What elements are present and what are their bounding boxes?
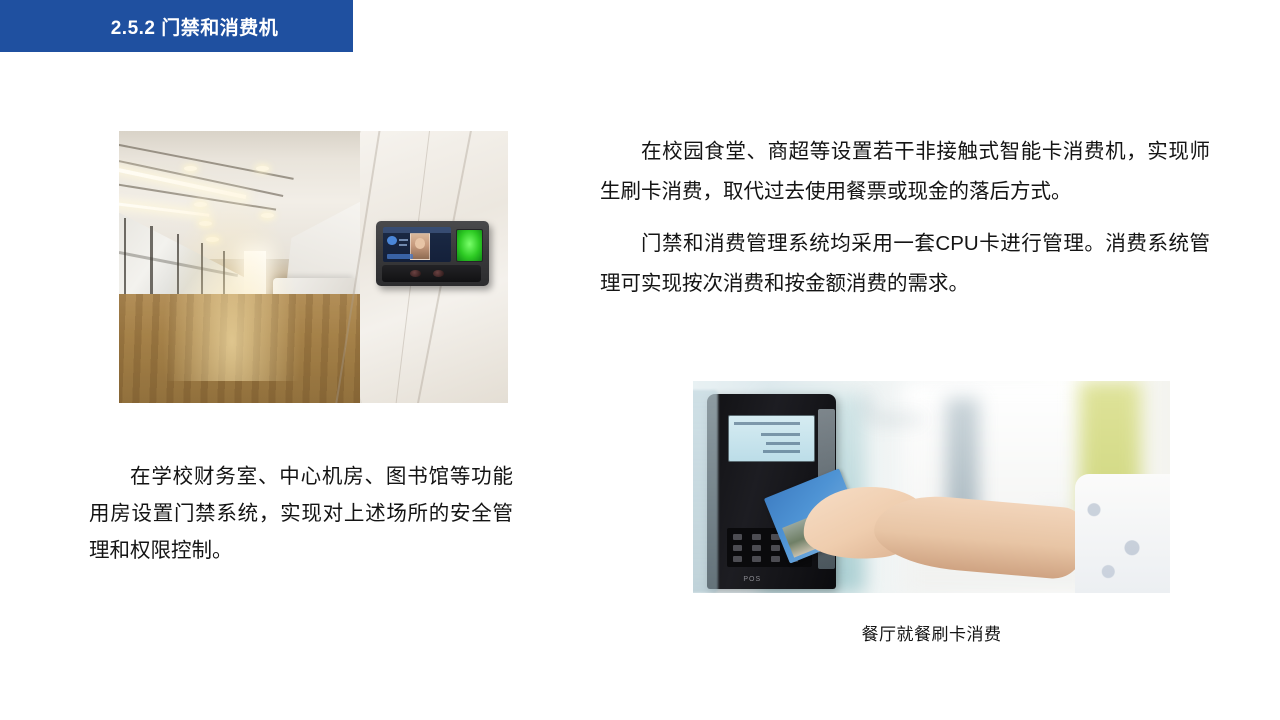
keypad-key [752,534,761,540]
camera-lens [433,270,444,277]
keypad-key [733,534,742,540]
lcd-text-line [763,450,800,453]
lcd-text-line [734,422,800,425]
keypad-key [771,556,780,562]
patterned-sleeve [1075,474,1170,593]
corridor-photo-half [119,131,360,403]
terminal-screen [383,227,450,262]
keypad-key [733,545,742,551]
camera-lens [410,270,421,277]
lcd-text-line [766,442,800,445]
terminal-camera-bar [382,265,481,283]
figure-access-control-image [119,131,508,403]
terminal-lcd-screen [728,415,815,462]
figure-caption-card-payment: 餐厅就餐刷卡消费 [693,620,1170,645]
keypad-key [771,545,780,551]
face-recognition-access-terminal [376,221,488,286]
header-banner: 2.5.2 门禁和消费机 [0,0,353,52]
keypad-key [752,545,761,551]
page-title: 2.5.2 门禁和消费机 [111,13,279,40]
screen-text-line [399,239,408,241]
screen-button [387,254,414,260]
floor-light-reflection [162,185,302,381]
marble-wall-half [360,131,508,403]
right-paragraph-1: 在校园食堂、商超等设置若干非接触式智能卡消费机，实现师生刷卡消费，取代过去使用餐… [600,132,1210,212]
background-hook [865,394,922,422]
terminal-side-glass [693,390,718,593]
fingerprint-scanner-icon [456,229,483,262]
lcd-text-line [761,433,800,436]
left-paragraph-1: 在学校财务室、中心机房、图书馆等功能用房设置门禁系统，实现对上述场所的安全管理和… [89,458,513,569]
terminal-brand-label: POS [743,576,761,583]
figure-card-payment-image: POS [693,381,1170,593]
keypad-key [733,556,742,562]
keypad-key [752,556,761,562]
card-payment-photo: POS [693,381,1170,593]
screen-text-line [399,244,406,246]
left-text-block: 在学校财务室、中心机房、图书馆等功能用房设置门禁系统，实现对上述场所的安全管理和… [89,458,513,569]
right-text-block: 在校园食堂、商超等设置若干非接触式智能卡消费机，实现师生刷卡消费，取代过去使用餐… [600,132,1210,316]
screen-face-photo [410,233,430,261]
right-paragraph-2: 门禁和消费管理系统均采用一套CPU卡进行管理。消费系统管理可实现按次消费和按金额… [600,224,1210,304]
screen-icon [387,236,396,245]
